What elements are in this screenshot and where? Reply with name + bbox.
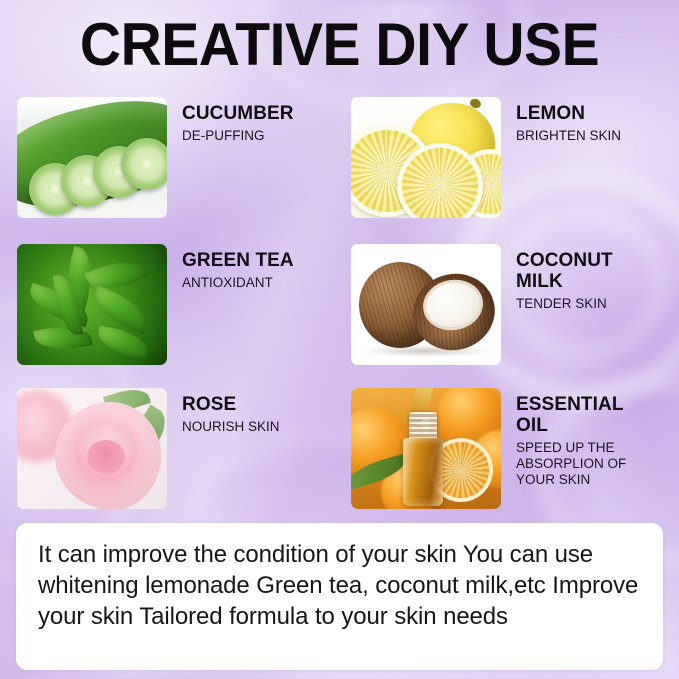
ingredient-item-cucumber: CUCUMBER DE-PUFFING — [17, 97, 294, 218]
ingredient-name: ROSE — [182, 394, 280, 415]
ingredient-name: ESSENTIAL OIL — [516, 394, 626, 436]
ingredient-item-lemon: LEMON BRIGHTEN SKIN — [351, 97, 621, 218]
ingredient-item-rose: ROSE NOURISH SKIN — [17, 388, 280, 509]
ingredient-item-essential-oil: ESSENTIAL OIL SPEED UP THE ABSORPLION OF… — [351, 388, 626, 509]
ingredient-name: CUCUMBER — [182, 103, 294, 124]
description-box: It can improve the condition of your ski… — [16, 523, 663, 670]
coconut-photo — [351, 244, 501, 365]
poster: CREATIVE DIY USE CUCUMBER DE-PUFFING — [0, 0, 679, 679]
ingredient-benefit: SPEED UP THE ABSORPLION OF YOUR SKIN — [516, 440, 626, 488]
ingredient-benefit: BRIGHTEN SKIN — [516, 128, 621, 144]
green-tea-photo — [17, 244, 167, 365]
ingredient-name: LEMON — [516, 103, 621, 124]
ingredient-benefit: ANTIOXIDANT — [182, 275, 294, 291]
lemon-photo — [351, 97, 501, 218]
rose-photo — [17, 388, 167, 509]
ingredient-item-green-tea: GREEN TEA ANTIOXIDANT — [17, 244, 294, 365]
ingredient-benefit: DE-PUFFING — [182, 128, 294, 144]
ingredient-benefit: TENDER SKIN — [516, 296, 613, 312]
ingredient-benefit: NOURISH SKIN — [182, 419, 280, 435]
ingredient-item-coconut-milk: COCONUT MILK TENDER SKIN — [351, 244, 613, 365]
description-text: It can improve the condition of your ski… — [38, 539, 641, 632]
ingredient-name: GREEN TEA — [182, 250, 294, 271]
essential-oil-photo — [351, 388, 501, 509]
ingredient-name: COCONUT MILK — [516, 250, 613, 292]
page-title: CREATIVE DIY USE — [17, 16, 662, 74]
cucumber-photo — [17, 97, 167, 218]
